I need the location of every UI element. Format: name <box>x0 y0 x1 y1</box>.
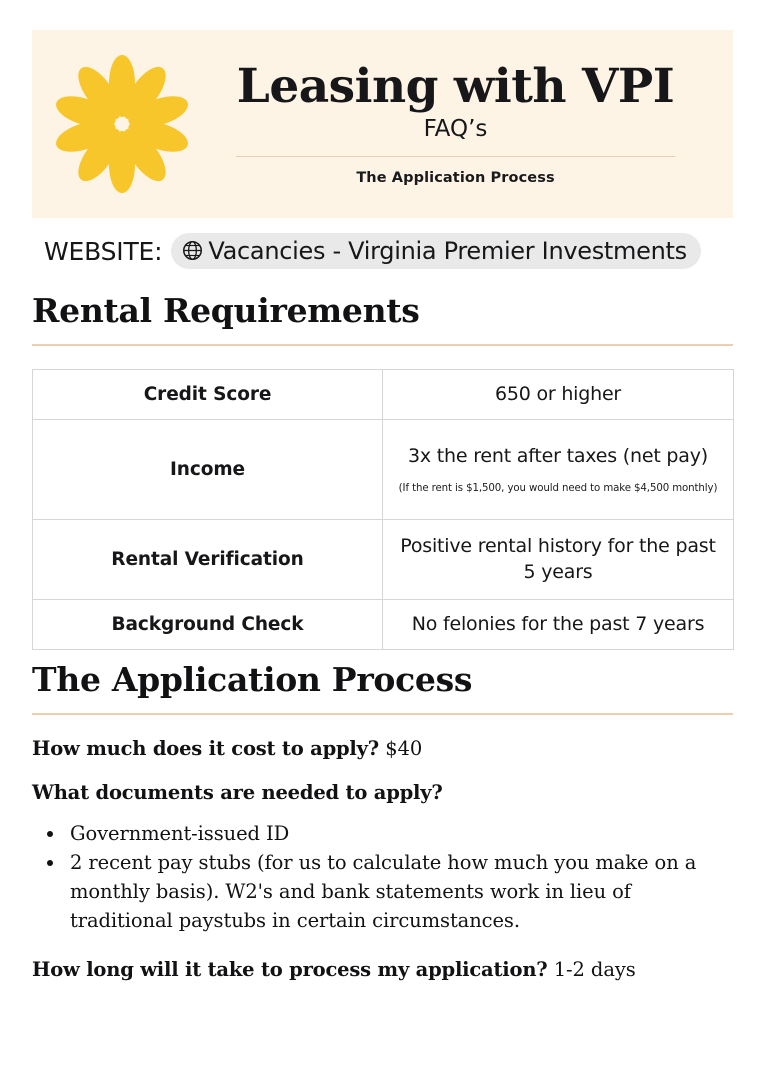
faq-body: How much does it cost to apply? $40 What… <box>32 736 733 983</box>
documents-list: Government-issued ID 2 recent pay stubs … <box>66 820 733 936</box>
website-label: WEBSITE: <box>44 237 162 266</box>
faq-answer-cost: $40 <box>385 737 422 760</box>
faq-item-processing: How long will it take to process my appl… <box>32 957 733 982</box>
application-process-section-header: The Application Process <box>32 661 733 715</box>
header-tagline: The Application Process <box>212 170 699 186</box>
table-cell-value: 3x the rent after taxes (net pay) (If th… <box>383 420 734 520</box>
table-cell-value-text: 3x the rent after taxes (net pay) <box>408 445 708 467</box>
page-subtitle: FAQ’s <box>212 116 699 144</box>
header-divider <box>236 156 675 157</box>
page-title: Leasing with VPI <box>212 62 699 112</box>
table-row: Income 3x the rent after taxes (net pay)… <box>33 420 734 520</box>
table-cell-value-text: 650 or higher <box>495 383 621 405</box>
faq-question-cost: How much does it cost to apply? <box>32 737 379 760</box>
faq-item-documents: What documents are needed to apply? <box>32 780 733 805</box>
faq-answer-processing: 1-2 days <box>554 958 636 981</box>
application-process-divider <box>32 713 733 715</box>
table-row: Rental Verification Positive rental hist… <box>33 520 734 600</box>
table-row: Background Check No felonies for the pas… <box>33 600 734 650</box>
table-row: Credit Score 650 or higher <box>33 370 734 420</box>
header-banner: Leasing with VPI FAQ’s The Application P… <box>32 30 733 218</box>
logo-container <box>32 30 212 218</box>
faq-question-processing: How long will it take to process my appl… <box>32 958 548 981</box>
table-cell-value-text: No felonies for the past 7 years <box>412 613 705 635</box>
header-text-block: Leasing with VPI FAQ’s The Application P… <box>212 62 733 185</box>
table-cell-value-text: Positive rental history for the past 5 y… <box>400 535 715 582</box>
website-row: WEBSITE: Vacancies - Virginia Premier In… <box>44 232 701 270</box>
website-link-text: Vacancies - Virginia Premier Investments <box>208 237 686 265</box>
table-cell-value: Positive rental history for the past 5 y… <box>383 520 734 600</box>
table-cell-label: Background Check <box>33 600 383 650</box>
table-cell-value: 650 or higher <box>383 370 734 420</box>
table-cell-value: No felonies for the past 7 years <box>383 600 734 650</box>
faq-flyer-page: Leasing with VPI FAQ’s The Application P… <box>0 0 765 1080</box>
faq-item-cost: How much does it cost to apply? $40 <box>32 736 733 761</box>
rental-requirements-section-header: Rental Requirements <box>32 292 733 346</box>
table-cell-label: Income <box>33 420 383 520</box>
list-item: 2 recent pay stubs (for us to calculate … <box>66 849 733 935</box>
rental-requirements-heading: Rental Requirements <box>32 292 733 330</box>
rental-requirements-divider <box>32 344 733 346</box>
faq-question-documents: What documents are needed to apply? <box>32 781 443 804</box>
table-cell-label: Rental Verification <box>33 520 383 600</box>
website-link[interactable]: Vacancies - Virginia Premier Investments <box>171 233 700 269</box>
application-process-heading: The Application Process <box>32 661 733 699</box>
list-item: Government-issued ID <box>66 820 733 849</box>
globe-icon <box>182 240 203 261</box>
rental-requirements-table: Credit Score 650 or higher Income 3x the… <box>32 369 734 650</box>
table-cell-value-note: (If the rent is $1,500, you would need t… <box>395 482 721 495</box>
sunflower-logo-icon <box>52 54 192 194</box>
table-cell-label: Credit Score <box>33 370 383 420</box>
